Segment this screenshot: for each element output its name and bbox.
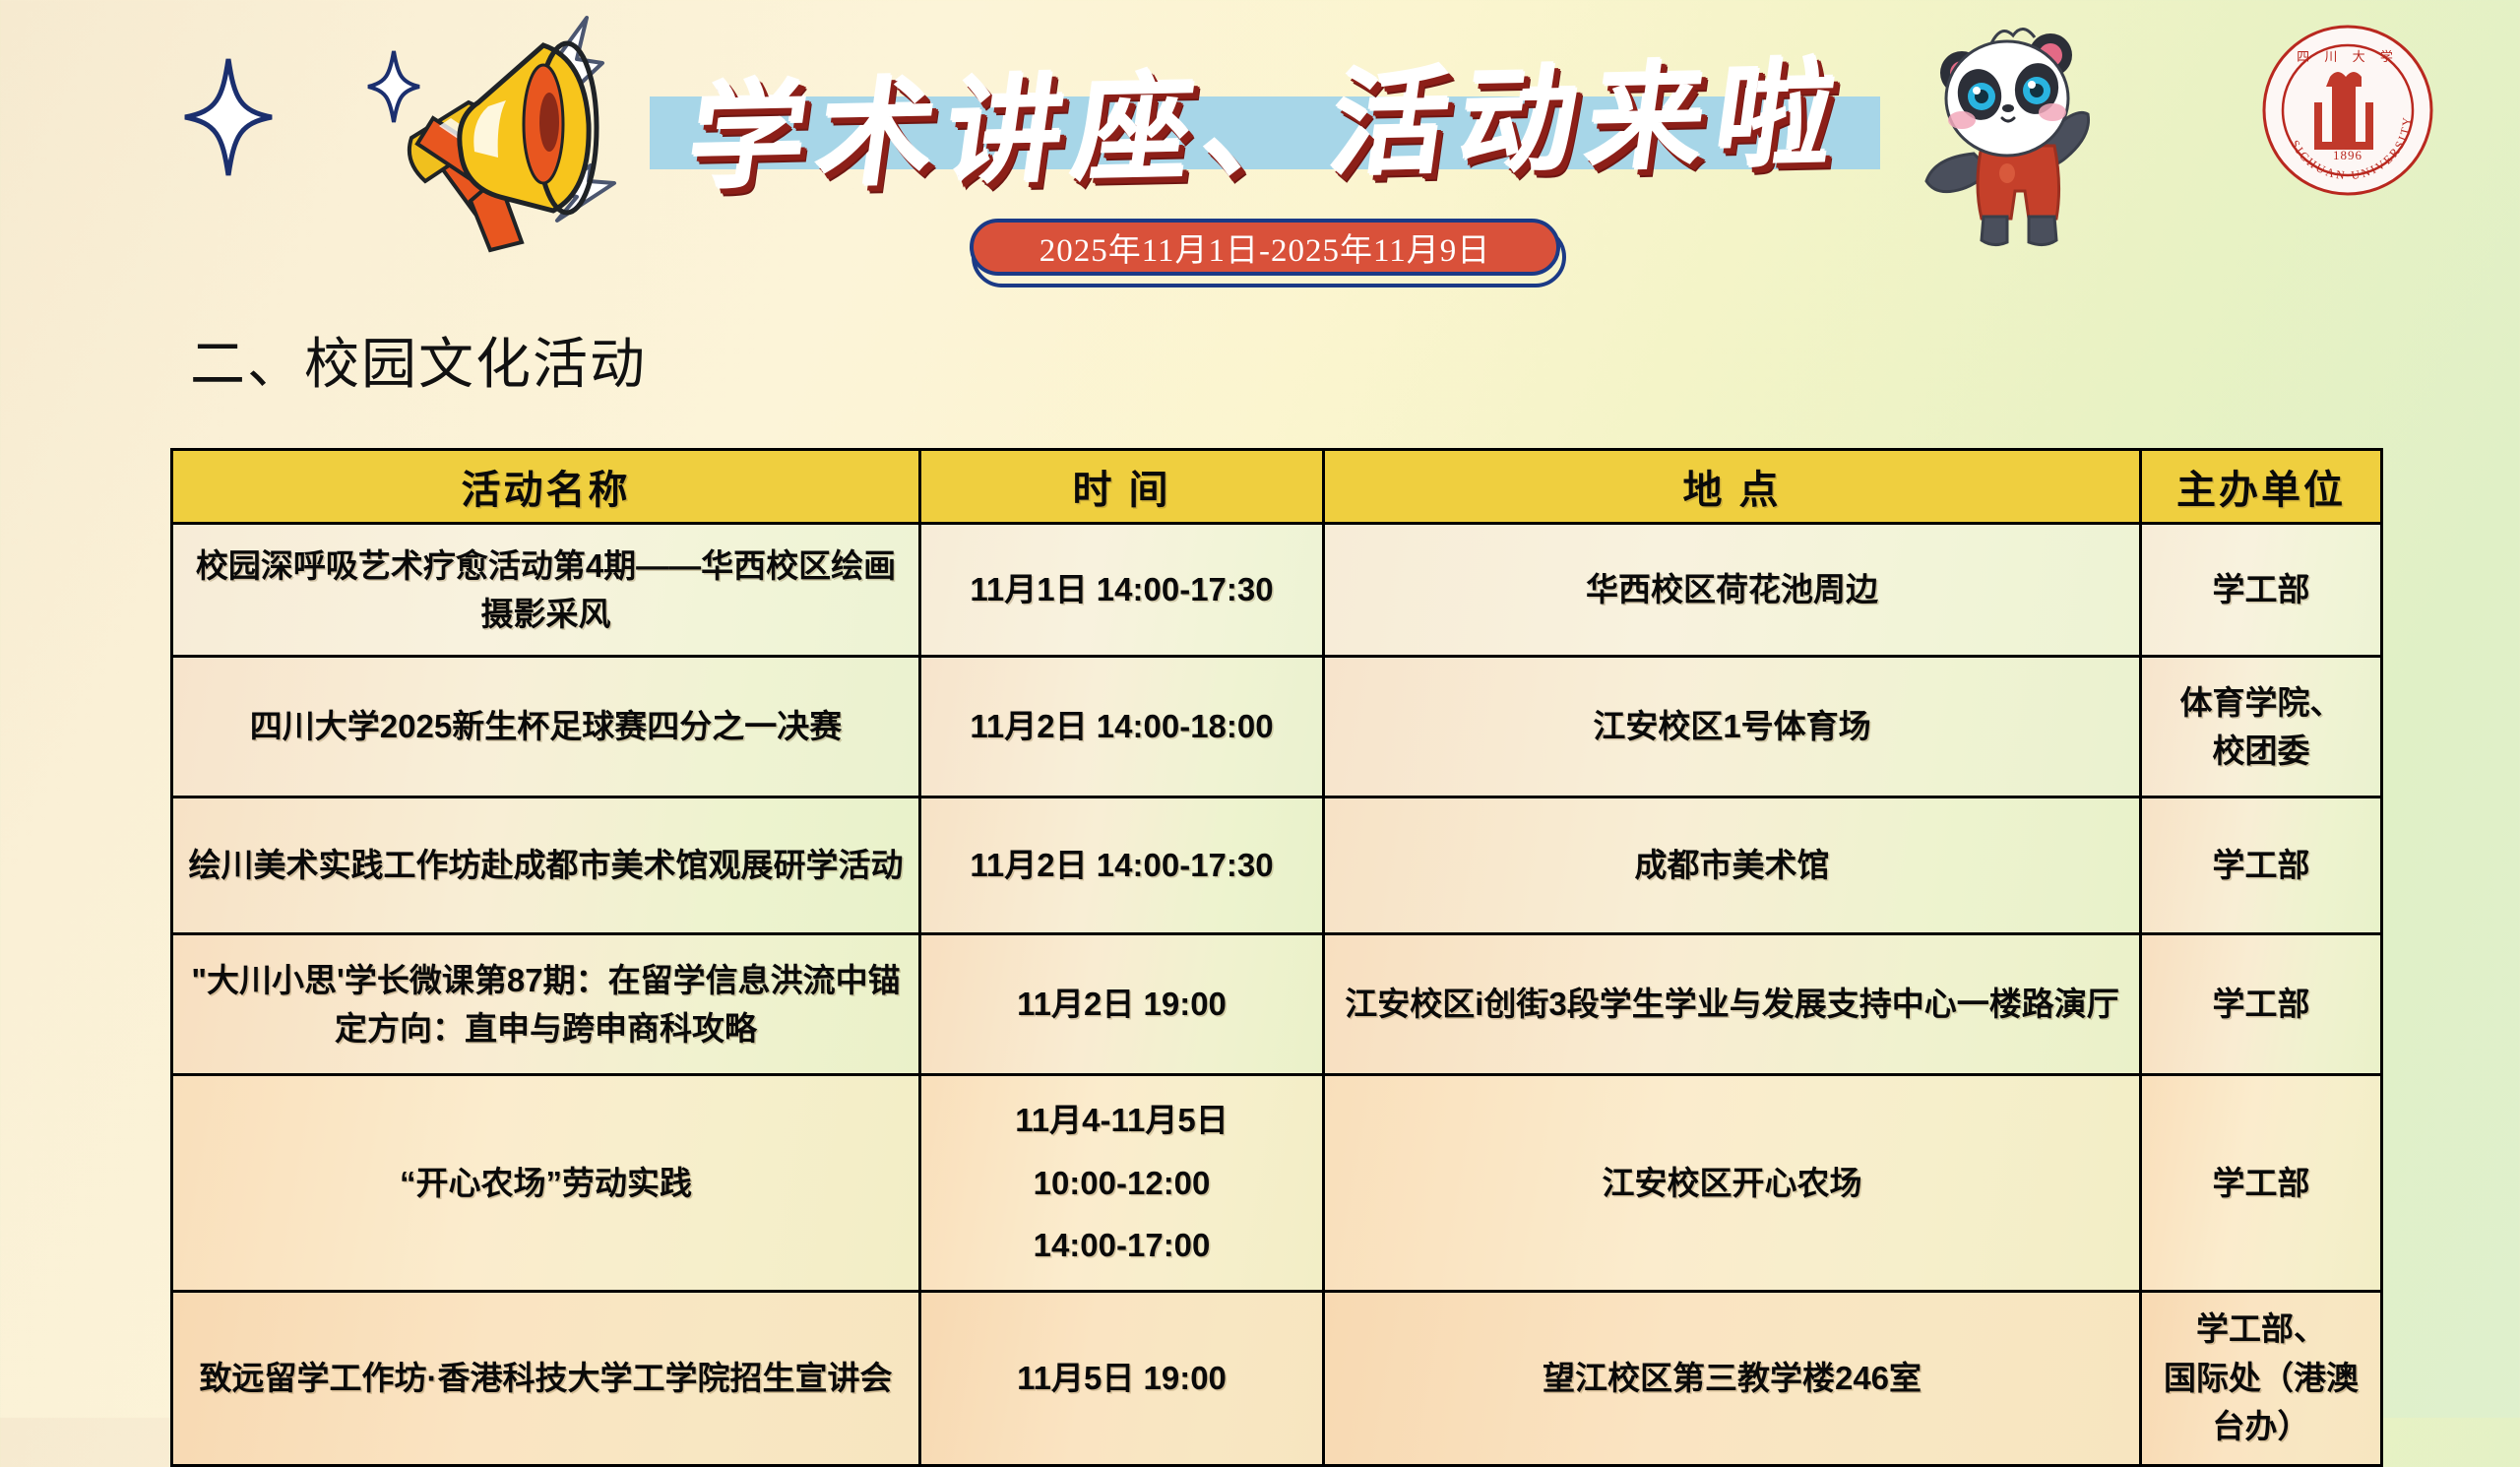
cell-organizer: 学工部 <box>2141 797 2382 934</box>
schedule-table: 活动名称 时 间 地 点 主办单位 校园深呼吸艺术疗愈活动第4期——华西校区绘画… <box>170 448 2383 1467</box>
table-row: “开心农场”劳动实践 11月4-11月5日10:00-12:0014:00-17… <box>172 1075 2382 1292</box>
cell-organizer: 学工部 <box>2141 934 2382 1075</box>
cell-place: 江安校区1号体育场 <box>1324 657 2141 797</box>
cell-activity-name: 校园深呼吸艺术疗愈活动第4期——华西校区绘画摄影采风 <box>172 524 920 657</box>
cell-place: 成都市美术馆 <box>1324 797 2141 934</box>
table-row: 四川大学2025新生杯足球赛四分之一决赛 11月2日 14:00-18:00 江… <box>172 657 2382 797</box>
cell-time: 11月1日 14:00-17:30 <box>920 524 1324 657</box>
cell-activity-name: 绘川美术实践工作坊赴成都市美术馆观展研学活动 <box>172 797 920 934</box>
cell-organizer: 学工部 <box>2141 1075 2382 1292</box>
cell-activity-name: 致远留学工作坊·香港科技大学工学院招生宣讲会 <box>172 1291 920 1465</box>
cell-organizer: 学工部、国际处（港澳台办） <box>2141 1291 2382 1465</box>
table-header-row: 活动名称 时 间 地 点 主办单位 <box>172 450 2382 524</box>
cell-place: 江安校区i创街3段学生学业与发展支持中心一楼路演厅 <box>1324 934 2141 1075</box>
cell-activity-name: 四川大学2025新生杯足球赛四分之一决赛 <box>172 657 920 797</box>
table-row: 校园深呼吸艺术疗愈活动第4期——华西校区绘画摄影采风 11月1日 14:00-1… <box>172 524 2382 657</box>
cell-place: 望江校区第三教学楼246室 <box>1324 1291 2141 1465</box>
schedule-table-wrapper: 活动名称 时 间 地 点 主办单位 校园深呼吸艺术疗愈活动第4期——华西校区绘画… <box>170 448 2380 1467</box>
cell-place: 华西校区荷花池周边 <box>1324 524 2141 657</box>
column-header-place: 地 点 <box>1324 450 2141 524</box>
table-row: 绘川美术实践工作坊赴成都市美术馆观展研学活动 11月2日 14:00-17:30… <box>172 797 2382 934</box>
column-header-organizer: 主办单位 <box>2141 450 2382 524</box>
cell-organizer: 体育学院、校团委 <box>2141 657 2382 797</box>
section-title: 二、校园文化活动 <box>190 320 647 400</box>
page-title: 学术讲座、活动来啦 <box>664 9 1875 221</box>
cell-time: 11月2日 19:00 <box>920 934 1324 1075</box>
cell-activity-name: "大川小思'学长微课第87期：在留学信息洪流中锚定方向：直申与跨申商科攻略 <box>172 934 920 1075</box>
cell-place: 江安校区开心农场 <box>1324 1075 2141 1292</box>
column-header-time: 时 间 <box>920 450 1324 524</box>
svg-text:1896: 1896 <box>2333 148 2362 162</box>
sparkle-icon <box>183 57 274 177</box>
cell-time: 11月5日 19:00 <box>920 1291 1324 1465</box>
cell-activity-name: “开心农场”劳动实践 <box>172 1075 920 1292</box>
date-range-text: 2025年11月1日-2025年11月9日 <box>970 219 1560 276</box>
cell-organizer: 学工部 <box>2141 524 2382 657</box>
page-header: 学术讲座、活动来啦 2025年11月1日-2025年11月9日 <box>0 0 2520 315</box>
megaphone-icon <box>295 8 669 254</box>
cell-time: 11月2日 14:00-17:30 <box>920 797 1324 934</box>
table-body: 校园深呼吸艺术疗愈活动第4期——华西校区绘画摄影采风 11月1日 14:00-1… <box>172 524 2382 1466</box>
table-row: "大川小思'学长微课第87期：在留学信息洪流中锚定方向：直申与跨申商科攻略 11… <box>172 934 2382 1075</box>
column-header-activity-name: 活动名称 <box>172 450 920 524</box>
svg-text:四 川 大 学: 四 川 大 学 <box>2297 49 2399 64</box>
date-range-badge: 2025年11月1日-2025年11月9日 <box>970 219 1560 280</box>
table-row: 致远留学工作坊·香港科技大学工学院招生宣讲会 11月5日 19:00 望江校区第… <box>172 1291 2382 1465</box>
scu-logo-icon: 1896 四 川 大 学 SICHUAN UNIVERSITY <box>2259 22 2436 199</box>
cell-time: 11月2日 14:00-18:00 <box>920 657 1324 797</box>
panda-mascot-icon <box>1905 8 2131 254</box>
cell-time: 11月4-11月5日10:00-12:0014:00-17:00 <box>920 1075 1324 1292</box>
